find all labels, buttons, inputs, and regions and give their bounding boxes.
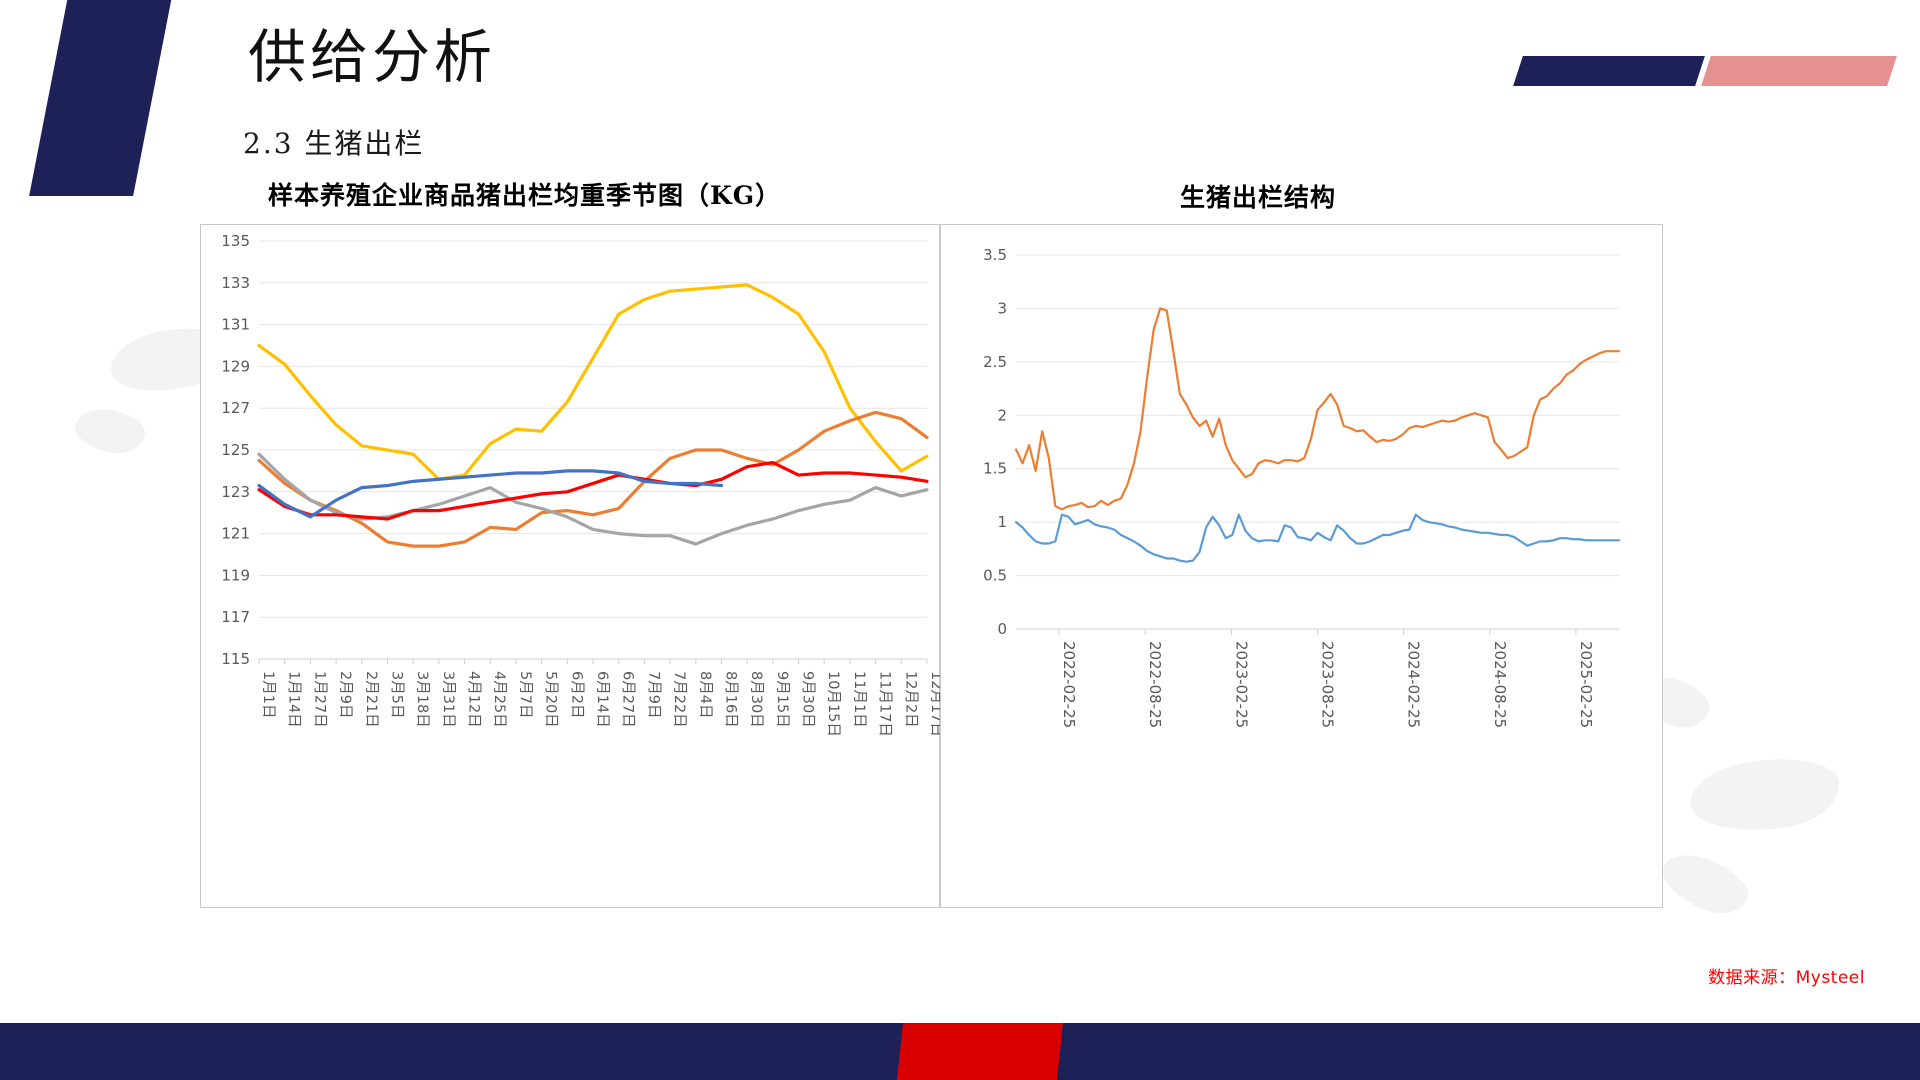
right-chart-panel: 00.511.522.533.52022-02-252022-08-252023… <box>940 224 1663 908</box>
left-plot-area: 1151171191211231251271291311331351月1日1月1… <box>201 225 941 909</box>
left-x-tick-label: 3月5日 <box>388 671 404 718</box>
footer-red-accent <box>897 1023 1063 1080</box>
right-x-tick-label: 2023-08-25 <box>1319 641 1337 728</box>
left-y-tick-label: 115 <box>221 650 250 668</box>
left-x-tick-label: 8月30日 <box>748 671 764 728</box>
left-x-tick-label: 7月22日 <box>671 671 687 728</box>
right-chart-title: 生猪出栏结构 <box>1180 178 1336 214</box>
left-x-tick-label: 1月14日 <box>286 671 302 728</box>
left-x-tick-label: 6月27日 <box>620 671 636 728</box>
data-source-note: 数据来源：Mysteel <box>1708 963 1865 988</box>
watermark-shape <box>1686 750 1844 840</box>
left-chart-svg: 1151171191211231251271291311331351月1日1月1… <box>201 225 941 909</box>
watermark-shape <box>72 405 147 456</box>
left-y-tick-label: 119 <box>221 566 250 584</box>
watermark-shape <box>1654 845 1755 923</box>
left-x-tick-label: 12月2日 <box>902 671 918 728</box>
left-y-tick-label: 125 <box>221 441 250 459</box>
left-x-tick-label: 11月17日 <box>877 671 893 737</box>
left-y-tick-label: 127 <box>221 399 250 417</box>
left-chart-title: 样本养殖企业商品猪出栏均重季节图（KG） <box>268 176 781 212</box>
right-x-tick-label: 2024-02-25 <box>1405 641 1423 728</box>
right-y-tick-label: 2 <box>997 406 1007 424</box>
left-y-tick-label: 129 <box>221 357 250 375</box>
left-y-tick-label: 123 <box>221 483 250 501</box>
left-x-tick-label: 3月18日 <box>414 671 430 728</box>
left-x-tick-label: 8月4日 <box>697 671 713 718</box>
left-x-tick-label: 7月9日 <box>645 671 661 718</box>
left-series-line <box>259 454 927 544</box>
right-x-tick-label: 2024-08-25 <box>1491 641 1509 728</box>
left-y-tick-label: 121 <box>221 525 250 543</box>
right-y-tick-label: 0.5 <box>983 567 1007 585</box>
right-y-tick-label: 2.5 <box>983 353 1007 371</box>
page-subtitle: 2.3 生猪出栏 <box>243 122 424 162</box>
decor-left-navy-bar <box>29 0 172 196</box>
right-series-line <box>1016 308 1619 509</box>
right-y-tick-label: 3.5 <box>983 246 1007 264</box>
left-y-tick-label: 135 <box>221 232 250 250</box>
left-y-tick-label: 131 <box>221 316 250 334</box>
left-x-tick-label: 6月2日 <box>568 671 584 718</box>
decor-top-pink-bar <box>1701 56 1897 86</box>
left-x-tick-label: 4月12日 <box>466 671 482 728</box>
left-x-tick-label: 11月1日 <box>851 671 867 728</box>
left-x-tick-label: 4月25日 <box>491 671 507 728</box>
left-series-line <box>259 412 927 546</box>
left-x-tick-label: 2月21日 <box>363 671 379 728</box>
left-x-tick-label: 8月16日 <box>722 671 738 728</box>
right-chart-svg: 00.511.522.533.52022-02-252022-08-252023… <box>941 225 1664 909</box>
left-x-tick-label: 1月1日 <box>260 671 276 718</box>
left-x-tick-label: 5月20日 <box>543 671 559 728</box>
left-x-tick-label: 10月15日 <box>825 671 841 737</box>
decor-top-navy-bar <box>1513 56 1705 86</box>
left-x-tick-label: 9月15日 <box>774 671 790 728</box>
right-y-tick-label: 1.5 <box>983 460 1007 478</box>
left-chart-panel: 1151171191211231251271291311331351月1日1月1… <box>200 224 940 908</box>
left-y-tick-label: 133 <box>221 274 250 292</box>
left-x-tick-label: 9月30日 <box>800 671 816 728</box>
right-x-tick-label: 2023-02-25 <box>1232 641 1250 728</box>
left-x-tick-label: 5月7日 <box>517 671 533 718</box>
footer-bar <box>0 1023 1920 1080</box>
right-y-tick-label: 3 <box>997 299 1007 317</box>
page-title: 供给分析 <box>248 28 496 86</box>
right-plot-area: 00.511.522.533.52022-02-252022-08-252023… <box>941 225 1664 909</box>
slide-root: 供给分析 2.3 生猪出栏 样本养殖企业商品猪出栏均重季节图（KG） 生猪出栏结… <box>0 0 1920 1080</box>
right-y-tick-label: 1 <box>997 513 1007 531</box>
left-x-tick-label: 1月27日 <box>311 671 327 728</box>
right-x-tick-label: 2025-02-25 <box>1577 641 1595 728</box>
right-x-tick-label: 2022-02-25 <box>1060 641 1078 728</box>
right-y-tick-label: 0 <box>997 620 1007 638</box>
left-y-tick-label: 117 <box>221 608 250 626</box>
left-x-tick-label: 3月31日 <box>440 671 456 728</box>
right-x-tick-label: 2022-08-25 <box>1146 641 1164 728</box>
left-x-tick-label: 6月14日 <box>594 671 610 728</box>
left-x-tick-label: 2月9日 <box>337 671 353 718</box>
